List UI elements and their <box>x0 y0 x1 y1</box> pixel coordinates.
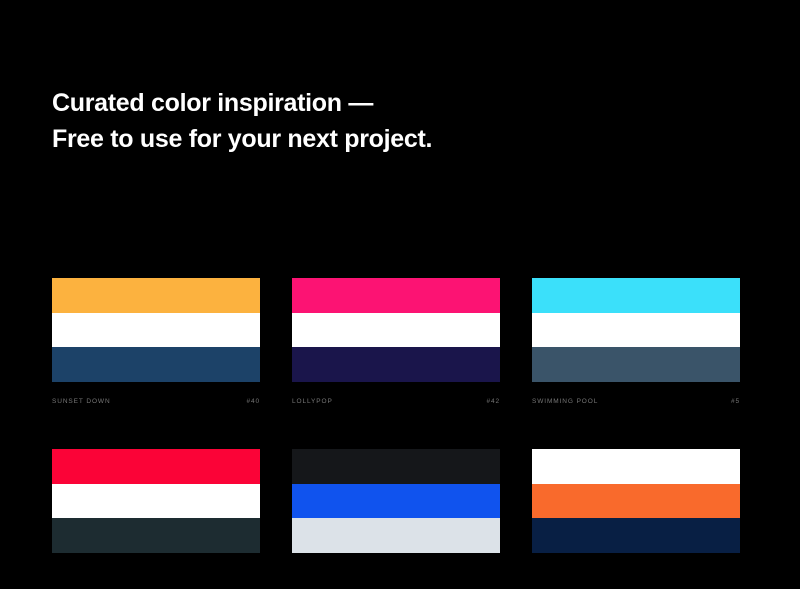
page-title: Curated color inspiration — Free to use … <box>52 85 432 157</box>
color-band[interactable] <box>532 347 740 382</box>
color-band[interactable] <box>292 484 500 519</box>
palette-count: #42 <box>486 398 500 405</box>
color-band[interactable] <box>532 449 740 484</box>
palette-card[interactable]: SWIMMING POOL #5 <box>532 278 740 405</box>
color-band[interactable] <box>292 518 500 553</box>
color-band[interactable] <box>532 484 740 519</box>
color-band[interactable] <box>52 518 260 553</box>
palette-swatches[interactable] <box>52 449 260 553</box>
palette-count: #40 <box>246 398 260 405</box>
palette-meta: SWIMMING POOL #5 <box>532 398 740 405</box>
palette-name: SWIMMING POOL <box>532 398 598 405</box>
palette-card[interactable]: LOLLYPOP #42 <box>292 278 500 405</box>
color-band[interactable] <box>52 449 260 484</box>
color-band[interactable] <box>52 484 260 519</box>
palette-swatches[interactable] <box>292 278 500 382</box>
color-band[interactable] <box>292 347 500 382</box>
color-band[interactable] <box>532 278 740 313</box>
color-band[interactable] <box>292 449 500 484</box>
palette-card[interactable] <box>292 449 500 569</box>
palette-swatches[interactable] <box>292 449 500 553</box>
color-band[interactable] <box>532 518 740 553</box>
palette-grid: SUNSET DOWN #40 LOLLYPOP #42 SWIMMIN <box>52 278 748 569</box>
color-band[interactable] <box>52 347 260 382</box>
palette-swatches[interactable] <box>52 278 260 382</box>
palette-swatches[interactable] <box>532 278 740 382</box>
color-band[interactable] <box>52 313 260 348</box>
palette-count: #5 <box>731 398 740 405</box>
color-band[interactable] <box>532 313 740 348</box>
color-band[interactable] <box>52 278 260 313</box>
palette-card[interactable] <box>532 449 740 569</box>
palette-name: LOLLYPOP <box>292 398 333 405</box>
palette-meta: SUNSET DOWN #40 <box>52 398 260 405</box>
palette-card[interactable]: SUNSET DOWN #40 <box>52 278 260 405</box>
color-band[interactable] <box>292 313 500 348</box>
palette-meta: LOLLYPOP #42 <box>292 398 500 405</box>
page-title-line-2: Free to use for your next project. <box>52 121 432 157</box>
palette-name: SUNSET DOWN <box>52 398 111 405</box>
color-band[interactable] <box>292 278 500 313</box>
page-title-line-1: Curated color inspiration — <box>52 85 432 121</box>
palette-swatches[interactable] <box>532 449 740 553</box>
palette-card[interactable] <box>52 449 260 569</box>
color-inspiration-page: Curated color inspiration — Free to use … <box>0 0 800 589</box>
